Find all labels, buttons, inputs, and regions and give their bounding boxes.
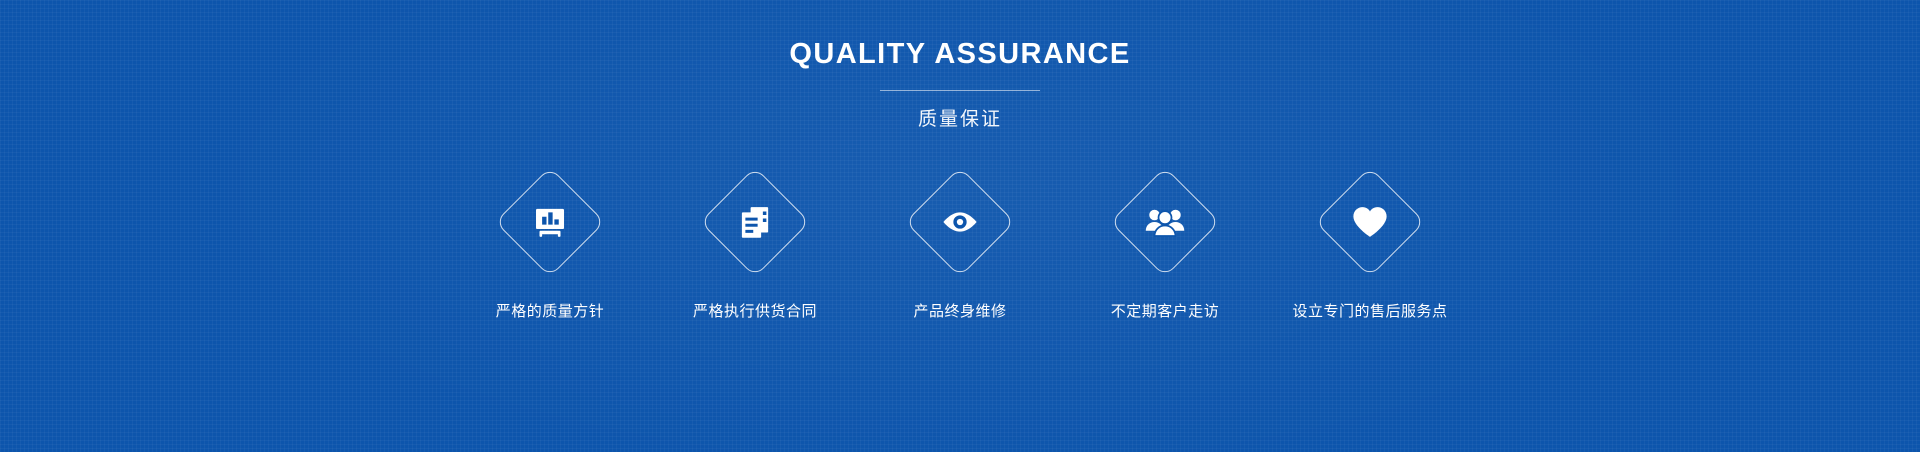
feature-label: 不定期客户走访 (1111, 303, 1220, 321)
feature-icon-frame (1311, 163, 1429, 281)
feature-label: 严格的质量方针 (496, 303, 605, 321)
feature-item-lifetime-repair[interactable]: 产品终身维修 (870, 163, 1050, 321)
feature-icon-frame (901, 163, 1019, 281)
feature-item-customer-visits[interactable]: 不定期客户走访 (1075, 163, 1255, 321)
document-contract-icon (734, 201, 776, 243)
presentation-chart-icon (529, 201, 571, 243)
feature-item-service-points[interactable]: 设立专门的售后服务点 (1280, 163, 1460, 321)
banner-heading-block: QUALITY ASSURANCE 质量保证 (789, 40, 1130, 129)
page-subtitle: 质量保证 (918, 110, 1002, 129)
feature-icon-frame (491, 163, 609, 281)
feature-label: 严格执行供货合同 (693, 303, 817, 321)
feature-list: 严格的质量方针 (460, 163, 1460, 321)
page-title: QUALITY ASSURANCE (789, 40, 1130, 69)
eye-icon (939, 201, 981, 243)
feature-icon-frame (1106, 163, 1224, 281)
feature-label: 产品终身维修 (913, 303, 1006, 321)
people-group-icon (1144, 201, 1186, 243)
title-divider (880, 90, 1040, 91)
feature-label: 设立专门的售后服务点 (1292, 303, 1447, 321)
feature-item-quality-policy[interactable]: 严格的质量方针 (460, 163, 640, 321)
quality-assurance-banner: QUALITY ASSURANCE 质量保证 (0, 0, 1920, 452)
feature-icon-frame (696, 163, 814, 281)
heart-icon (1349, 201, 1391, 243)
feature-item-supply-contract[interactable]: 严格执行供货合同 (665, 163, 845, 321)
